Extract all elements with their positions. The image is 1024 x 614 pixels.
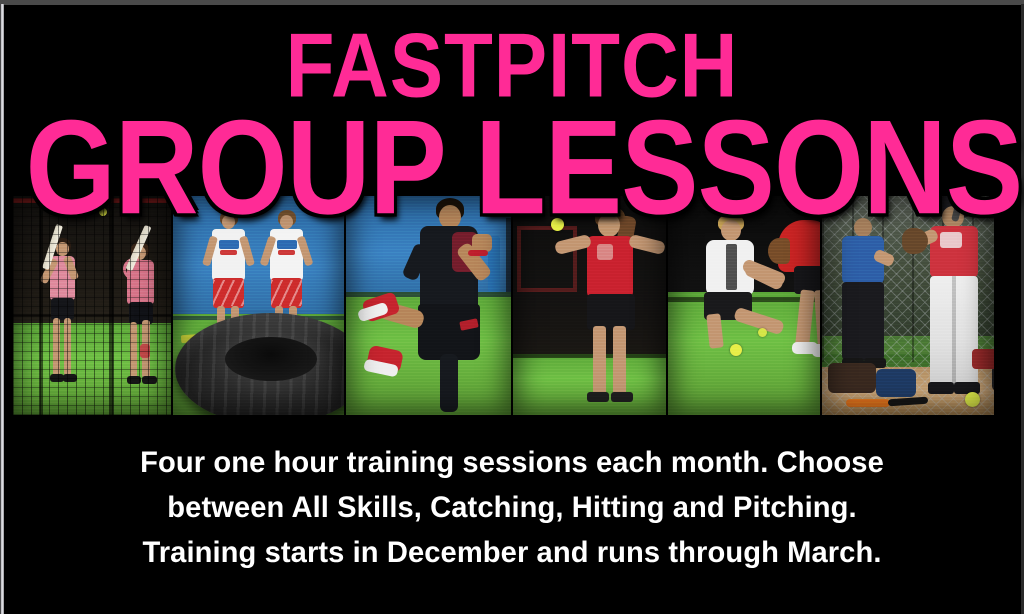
body-line-2: between All Skills, Catching, Hitting an…: [15, 485, 1008, 530]
photo-image: [173, 196, 344, 415]
title-fastpitch: FASTPITCH: [36, 20, 988, 111]
photo-speed-sprint-drill: [346, 196, 513, 415]
fastpitch-group-lessons-poster: FASTPITCH GROUP LESSONS: [0, 0, 1024, 614]
photo-fielding-ground-ball: [668, 196, 822, 415]
photo-soft-toss-hitting: [513, 196, 668, 415]
poster-body-copy: Four one hour training sessions each mon…: [0, 440, 1024, 575]
photo-image: [668, 196, 820, 415]
photo-strip: [13, 196, 994, 415]
body-line-1: Four one hour training sessions each mon…: [15, 440, 1008, 485]
photo-image: [346, 196, 511, 415]
photo-tire-agility-drill: [173, 196, 346, 415]
photo-image: [513, 196, 666, 415]
photo-image: [13, 196, 171, 415]
photo-batting-cage-hitting: [13, 196, 173, 415]
window-top-edge: [0, 0, 1024, 5]
body-line-3: Training starts in December and runs thr…: [15, 530, 1008, 575]
photo-image: [822, 196, 994, 415]
photo-outdoor-game-batting: [822, 196, 994, 415]
